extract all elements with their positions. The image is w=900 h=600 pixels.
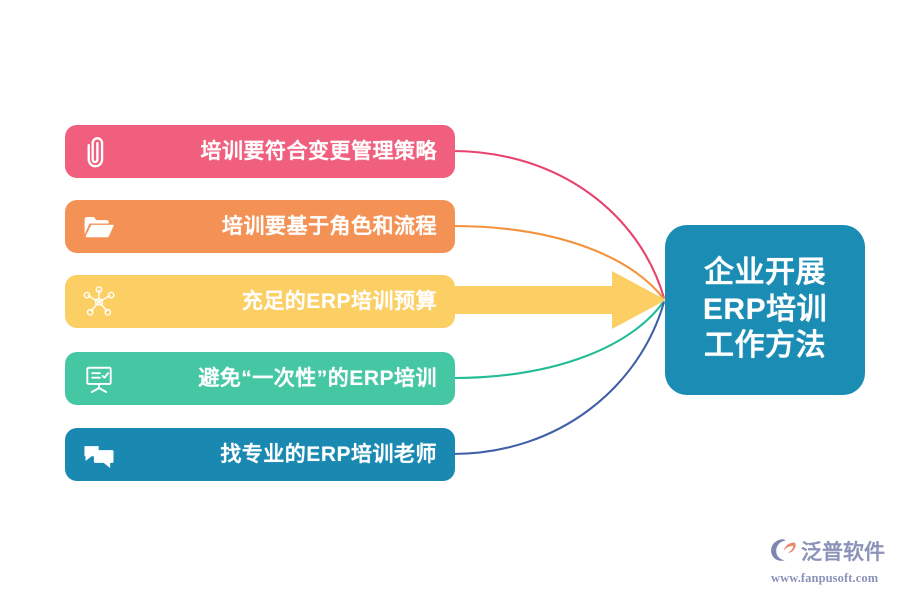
- feature-bar-3[interactable]: 充足的ERP培训预算: [65, 275, 455, 328]
- brand-logo-row: 泛普软件: [770, 537, 885, 568]
- feature-bar-1[interactable]: 培训要符合变更管理策略: [65, 125, 455, 178]
- feature-bar-label: 充足的ERP培训预算: [119, 291, 437, 312]
- network-nodes-icon: [79, 282, 119, 322]
- connector-curve-2: [452, 226, 664, 299]
- chat-bubbles-icon: [79, 435, 119, 475]
- connector-curve-1: [452, 151, 664, 298]
- target-result-box[interactable]: 企业开展 ERP培训 工作方法: [665, 225, 865, 395]
- presentation-board-icon: [79, 359, 119, 399]
- fanpu-logo-mark-icon: [770, 537, 797, 568]
- brand-logo: 泛普软件 www.fanpusoft.com: [770, 537, 890, 589]
- paperclip-icon: [79, 132, 119, 172]
- connector-arrow-3: [440, 271, 666, 329]
- brand-name: 泛普软件: [801, 542, 885, 563]
- target-line-3: 工作方法: [704, 328, 826, 365]
- connector-curve-5: [452, 302, 664, 454]
- feature-bar-label: 培训要基于角色和流程: [119, 216, 437, 237]
- folder-icon: [79, 207, 119, 247]
- feature-bar-label: 找专业的ERP培训老师: [119, 444, 437, 465]
- target-line-1: 企业开展: [704, 255, 826, 292]
- feature-bar-5[interactable]: 找专业的ERP培训老师: [65, 428, 455, 481]
- feature-bar-label: 避免“一次性”的ERP培训: [119, 368, 437, 389]
- infographic-canvas: 培训要符合变更管理策略 培训要基于角色和流程: [0, 0, 900, 600]
- feature-bar-label: 培训要符合变更管理策略: [119, 141, 437, 162]
- target-line-2: ERP培训: [703, 292, 827, 329]
- connector-curve-4: [452, 301, 664, 378]
- feature-bar-4[interactable]: 避免“一次性”的ERP培训: [65, 352, 455, 405]
- feature-bar-2[interactable]: 培训要基于角色和流程: [65, 200, 455, 253]
- brand-url: www.fanpusoft.com: [771, 571, 878, 586]
